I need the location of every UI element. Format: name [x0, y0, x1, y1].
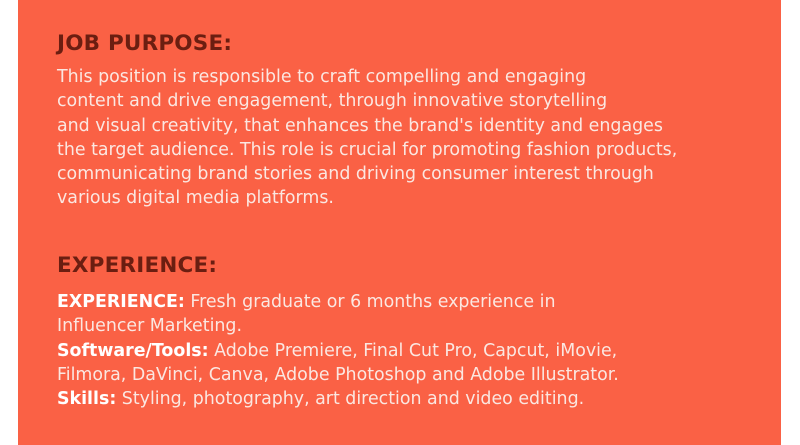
job-purpose-line-4: the target audience. This role is crucia… — [57, 138, 767, 162]
job-purpose-line-1: This position is responsible to craft co… — [57, 65, 767, 89]
experience-heading: EXPERIENCE: — [57, 255, 217, 277]
experience-item-experience-line-1: EXPERIENCE: Fresh graduate or 6 months e… — [57, 290, 767, 314]
job-purpose-line-3: and visual creativity, that enhances the… — [57, 114, 767, 138]
job-purpose-paragraph: This position is responsible to craft co… — [57, 65, 767, 211]
job-purpose-heading: JOB PURPOSE: — [57, 33, 232, 55]
experience-item-skills-label: Skills: — [57, 389, 116, 409]
slide-canvas: JOB PURPOSE: This position is responsibl… — [0, 0, 800, 445]
experience-item-skills-value-line-1: Styling, photography, art direction and … — [116, 389, 584, 409]
experience-item-software-tools-line-2: Filmora, DaVinci, Canva, Adobe Photoshop… — [57, 363, 767, 387]
experience-item-software-tools-value-line-1: Adobe Premiere, Final Cut Pro, Capcut, i… — [209, 341, 618, 361]
experience-item-experience-value-line-1: Fresh graduate or 6 months experience in — [185, 292, 556, 312]
experience-item-experience-line-2: Influencer Marketing. — [57, 314, 767, 338]
experience-item-software-tools-line-1: Software/Tools: Adobe Premiere, Final Cu… — [57, 339, 767, 363]
coral-content-panel: JOB PURPOSE: This position is responsibl… — [18, 0, 781, 445]
experience-details-block: EXPERIENCE: Fresh graduate or 6 months e… — [57, 290, 767, 411]
experience-item-experience-label: EXPERIENCE: — [57, 292, 185, 312]
experience-item-skills-line-1: Skills: Styling, photography, art direct… — [57, 387, 767, 411]
content-column: JOB PURPOSE: This position is responsibl… — [57, 0, 772, 445]
experience-item-software-tools-label: Software/Tools: — [57, 341, 209, 361]
job-purpose-line-2: content and drive engagement, through in… — [57, 89, 767, 113]
job-purpose-line-6: various digital media platforms. — [57, 186, 767, 210]
job-purpose-line-5: communicating brand stories and driving … — [57, 162, 767, 186]
